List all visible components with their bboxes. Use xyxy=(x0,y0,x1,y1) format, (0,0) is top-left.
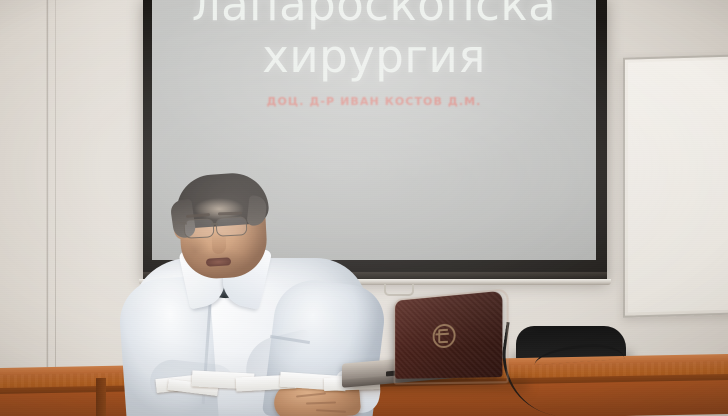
scene-vignette xyxy=(0,0,728,416)
photo-scene: лапароскопска хирургия ДОЦ. Д-Р ИВАН КОС… xyxy=(0,0,728,416)
